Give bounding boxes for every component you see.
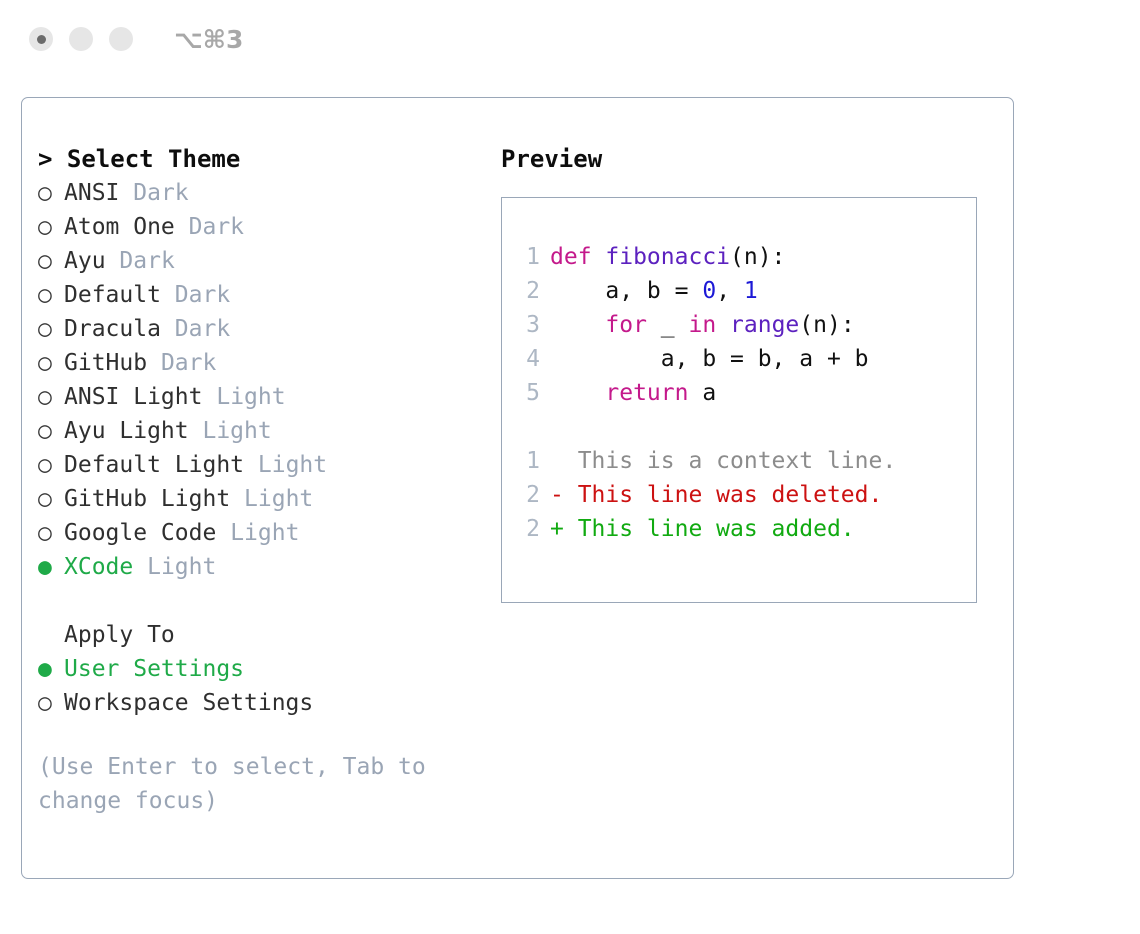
preview-heading: Preview bbox=[501, 142, 1001, 176]
diff-line-add: 2+ This line was added. bbox=[514, 512, 896, 546]
theme-option-label: ANSI Light bbox=[64, 384, 202, 410]
label-variant-gap bbox=[216, 520, 230, 546]
code-token-plain bbox=[716, 312, 730, 338]
theme-option-ayu[interactable]: ○Ayu Dark bbox=[38, 244, 498, 278]
radio-unselected-icon: ○ bbox=[38, 210, 64, 244]
diff-line-del: 2- This line was deleted. bbox=[514, 478, 896, 512]
radio-unselected-icon: ○ bbox=[38, 278, 64, 312]
code-line: 2 a, b = 0, 1 bbox=[514, 274, 896, 308]
code-line-number: 5 bbox=[514, 376, 540, 410]
theme-variant-badge: Light bbox=[230, 520, 299, 546]
theme-selection-column: > Select Theme ○ANSI Dark○Atom One Dark○… bbox=[38, 142, 498, 818]
theme-option-default-light[interactable]: ○Default Light Light bbox=[38, 448, 498, 482]
diff-line-text: + This line was added. bbox=[550, 516, 855, 542]
theme-variant-badge: Light bbox=[244, 486, 313, 512]
code-token-plain: a bbox=[688, 380, 716, 406]
diff-line-number: 1 bbox=[514, 444, 540, 478]
main-panel: > Select Theme ○ANSI Dark○Atom One Dark○… bbox=[21, 97, 1014, 879]
code-token-kw: in bbox=[688, 312, 716, 338]
diff-line-number: 2 bbox=[514, 478, 540, 512]
theme-option-label: Google Code bbox=[64, 520, 216, 546]
code-line: 1def fibonacci(n): bbox=[514, 240, 896, 274]
theme-option-label: GitHub Light bbox=[64, 486, 230, 512]
code-token-num: 0 bbox=[702, 278, 716, 304]
code-preview: 1def fibonacci(n):2 a, b = 0, 13 for _ i… bbox=[514, 240, 896, 546]
theme-option-ansi[interactable]: ○ANSI Dark bbox=[38, 176, 498, 210]
label-variant-gap bbox=[106, 248, 120, 274]
radio-unselected-icon: ○ bbox=[38, 482, 64, 516]
traffic-light-minimize[interactable] bbox=[69, 27, 93, 51]
theme-variant-badge: Dark bbox=[175, 316, 230, 342]
code-token-plain: _ bbox=[647, 312, 689, 338]
code-token-kw: for bbox=[605, 312, 647, 338]
theme-option-google-code[interactable]: ○Google Code Light bbox=[38, 516, 498, 550]
code-line-number: 4 bbox=[514, 342, 540, 376]
theme-option-label: Ayu Light bbox=[64, 418, 189, 444]
radio-unselected-icon: ○ bbox=[38, 414, 64, 448]
radio-unselected-icon: ○ bbox=[38, 244, 64, 278]
traffic-light-close[interactable] bbox=[29, 27, 53, 51]
theme-option-label: Atom One bbox=[64, 214, 175, 240]
theme-option-default[interactable]: ○Default Dark bbox=[38, 278, 498, 312]
label-variant-gap bbox=[147, 350, 161, 376]
theme-variant-badge: Dark bbox=[189, 214, 244, 240]
apply-to-option-list: ●User Settings○Workspace Settings bbox=[38, 652, 498, 720]
theme-option-list: ○ANSI Dark○Atom One Dark○Ayu Dark○Defaul… bbox=[38, 176, 498, 584]
diff-line-text: This is a context line. bbox=[550, 448, 896, 474]
radio-selected-icon: ● bbox=[38, 550, 64, 584]
theme-variant-badge: Light bbox=[216, 384, 285, 410]
label-variant-gap bbox=[244, 452, 258, 478]
traffic-light-active-indicator bbox=[37, 35, 46, 44]
code-line: 5 return a bbox=[514, 376, 896, 410]
code-line: 3 for _ in range(n): bbox=[514, 308, 896, 342]
code-token-fn: range bbox=[730, 312, 799, 338]
keyboard-hint-text: (Use Enter to select, Tab to change focu… bbox=[38, 750, 438, 818]
app-window: ⌥⌘3 > Select Theme ○ANSI Dark○Atom One D… bbox=[0, 0, 1140, 934]
code-token-num: 1 bbox=[744, 278, 758, 304]
code-token-plain: a, b = b, a + b bbox=[550, 346, 869, 372]
section-spacer bbox=[38, 584, 498, 618]
theme-option-xcode[interactable]: ●XCode Light bbox=[38, 550, 498, 584]
theme-variant-badge: Light bbox=[258, 452, 327, 478]
theme-option-label: Ayu bbox=[64, 248, 106, 274]
radio-selected-icon: ● bbox=[38, 652, 64, 686]
traffic-light-maximize[interactable] bbox=[109, 27, 133, 51]
radio-unselected-icon: ○ bbox=[38, 176, 64, 210]
theme-option-ayu-light[interactable]: ○Ayu Light Light bbox=[38, 414, 498, 448]
label-variant-gap bbox=[189, 418, 203, 444]
theme-option-label: Default bbox=[64, 282, 161, 308]
apply-to-option-label: User Settings bbox=[64, 656, 244, 682]
code-line-number: 3 bbox=[514, 308, 540, 342]
code-token-plain bbox=[550, 380, 605, 406]
theme-option-github-light[interactable]: ○GitHub Light Light bbox=[38, 482, 498, 516]
select-theme-heading-label: Select Theme bbox=[67, 145, 240, 173]
code-token-plain: (n): bbox=[799, 312, 854, 338]
code-token-kw: def bbox=[550, 244, 605, 270]
diff-line-ctx: 1 This is a context line. bbox=[514, 444, 896, 478]
diff-line-text: - This line was deleted. bbox=[550, 482, 882, 508]
theme-option-dracula[interactable]: ○Dracula Dark bbox=[38, 312, 498, 346]
code-diff-separator bbox=[514, 410, 896, 444]
theme-variant-badge: Dark bbox=[119, 248, 174, 274]
theme-variant-badge: Light bbox=[202, 418, 271, 444]
radio-unselected-icon: ○ bbox=[38, 346, 64, 380]
code-token-plain: , bbox=[716, 278, 744, 304]
label-variant-gap bbox=[161, 282, 175, 308]
keyboard-shortcut-label: ⌥⌘3 bbox=[174, 27, 243, 52]
theme-option-github[interactable]: ○GitHub Dark bbox=[38, 346, 498, 380]
apply-to-heading-label: Apply To bbox=[64, 622, 175, 648]
code-token-plain bbox=[550, 312, 605, 338]
apply-to-option-label: Workspace Settings bbox=[64, 690, 313, 716]
code-line-number: 2 bbox=[514, 274, 540, 308]
title-bar: ⌥⌘3 bbox=[0, 0, 1140, 78]
apply-to-option-workspace-settings[interactable]: ○Workspace Settings bbox=[38, 686, 498, 720]
label-variant-gap bbox=[230, 486, 244, 512]
apply-to-option-user-settings[interactable]: ●User Settings bbox=[38, 652, 498, 686]
label-variant-gap bbox=[175, 214, 189, 240]
theme-option-label: GitHub bbox=[64, 350, 147, 376]
radio-unselected-icon: ○ bbox=[38, 516, 64, 550]
theme-variant-badge: Dark bbox=[175, 282, 230, 308]
theme-variant-badge: Dark bbox=[133, 180, 188, 206]
radio-unselected-icon: ○ bbox=[38, 312, 64, 346]
code-token-fn: fibonacci bbox=[605, 244, 730, 270]
code-token-plain: a, b = bbox=[550, 278, 702, 304]
select-theme-heading: > Select Theme bbox=[38, 142, 498, 176]
label-variant-gap bbox=[161, 316, 175, 342]
label-variant-gap bbox=[133, 554, 147, 580]
code-token-plain: (n): bbox=[730, 244, 785, 270]
theme-option-ansi-light[interactable]: ○ANSI Light Light bbox=[38, 380, 498, 414]
theme-variant-badge: Dark bbox=[161, 350, 216, 376]
theme-option-atom-one[interactable]: ○Atom One Dark bbox=[38, 210, 498, 244]
theme-option-label: ANSI bbox=[64, 180, 119, 206]
preview-column: Preview 1def fibonacci(n):2 a, b = 0, 13… bbox=[501, 142, 1001, 603]
diff-line-number: 2 bbox=[514, 512, 540, 546]
preview-box: 1def fibonacci(n):2 a, b = 0, 13 for _ i… bbox=[501, 197, 977, 603]
radio-unselected-icon: ○ bbox=[38, 448, 64, 482]
theme-option-label: Default Light bbox=[64, 452, 244, 478]
prompt-caret-icon: > bbox=[38, 145, 67, 173]
radio-unselected-icon: ○ bbox=[38, 686, 64, 720]
code-line-number: 1 bbox=[514, 240, 540, 274]
radio-unselected-icon: ○ bbox=[38, 380, 64, 414]
theme-option-label: Dracula bbox=[64, 316, 161, 342]
label-variant-gap bbox=[202, 384, 216, 410]
label-variant-gap bbox=[119, 180, 133, 206]
code-line: 4 a, b = b, a + b bbox=[514, 342, 896, 376]
code-token-kw: return bbox=[605, 380, 688, 406]
theme-variant-badge: Light bbox=[147, 554, 216, 580]
theme-option-label: XCode bbox=[64, 554, 133, 580]
apply-to-heading: Apply To bbox=[38, 618, 498, 652]
